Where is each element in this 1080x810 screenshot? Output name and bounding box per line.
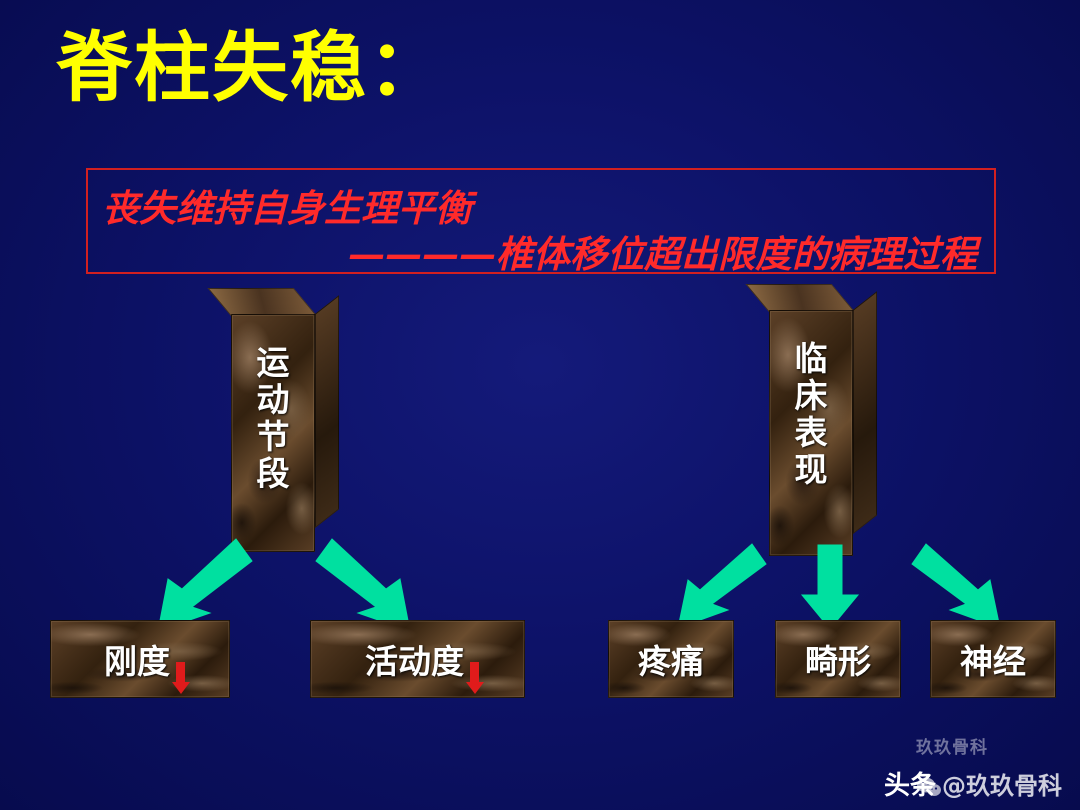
leaf-block-deformity-label: 畸形 [776, 621, 900, 697]
watermark-center: 玖玖骨科 [916, 733, 988, 758]
pillar-clinical-side [853, 291, 877, 534]
leaf-block-deformity: 畸形 [775, 620, 901, 698]
pillar-char: 动 [232, 382, 314, 419]
pillar-motion-segment-top [208, 288, 317, 316]
leaf-block-stiffness-label: 刚度 [104, 635, 170, 683]
watermark-brand: 头条 [884, 765, 936, 802]
arrow-to-pain [660, 540, 780, 630]
arrow-to-nerve [900, 540, 1020, 630]
pillar-char: 段 [232, 456, 314, 493]
pillar-clinical-top [746, 284, 855, 312]
pillar-char: 节 [232, 419, 314, 456]
leaf-block-pain-label: 疼痛 [609, 621, 733, 697]
pillar-motion-segment: 运 动 节 段 [231, 314, 315, 552]
pillar-motion-segment-label: 运 动 节 段 [232, 345, 314, 493]
pillar-char: 临 [770, 341, 852, 378]
page-title: 脊柱失稳： [56, 30, 446, 106]
pillar-char: 运 [232, 345, 314, 382]
definition-line-2: ————椎体移位超出限度的病理过程 [348, 224, 977, 278]
leaf-block-nerve-label: 神经 [931, 621, 1055, 697]
leaf-block-pain: 疼痛 [608, 620, 734, 698]
slide-canvas: 脊柱失稳： 丧失维持自身生理平衡 ————椎体移位超出限度的病理过程 运 动 节… [0, 0, 1080, 810]
leaf-block-mobility: 活动度 [310, 620, 525, 698]
leaf-block-stiffness: 刚度 [50, 620, 230, 698]
leaf-block-stiffness-content: 刚度 [51, 621, 229, 697]
pillar-char: 床 [770, 378, 852, 415]
leaf-block-mobility-label: 活动度 [365, 635, 464, 683]
leaf-block-mobility-content: 活动度 [311, 621, 524, 697]
watermark-account: @玖玖骨科 [942, 766, 1062, 801]
definition-box: 丧失维持自身生理平衡 ————椎体移位超出限度的病理过程 [86, 168, 996, 274]
pillar-clinical-manifestation: 临 床 表 现 [769, 310, 853, 556]
arrow-to-deformity [800, 545, 860, 630]
pillar-char: 表 [770, 415, 852, 452]
pillar-char: 现 [770, 452, 852, 489]
watermark-bar: 头条 @玖玖骨科 [884, 765, 1062, 802]
pillar-clinical-label: 临 床 表 现 [770, 341, 852, 489]
pillar-motion-segment-side [315, 295, 339, 528]
leaf-block-nerve: 神经 [930, 620, 1056, 698]
